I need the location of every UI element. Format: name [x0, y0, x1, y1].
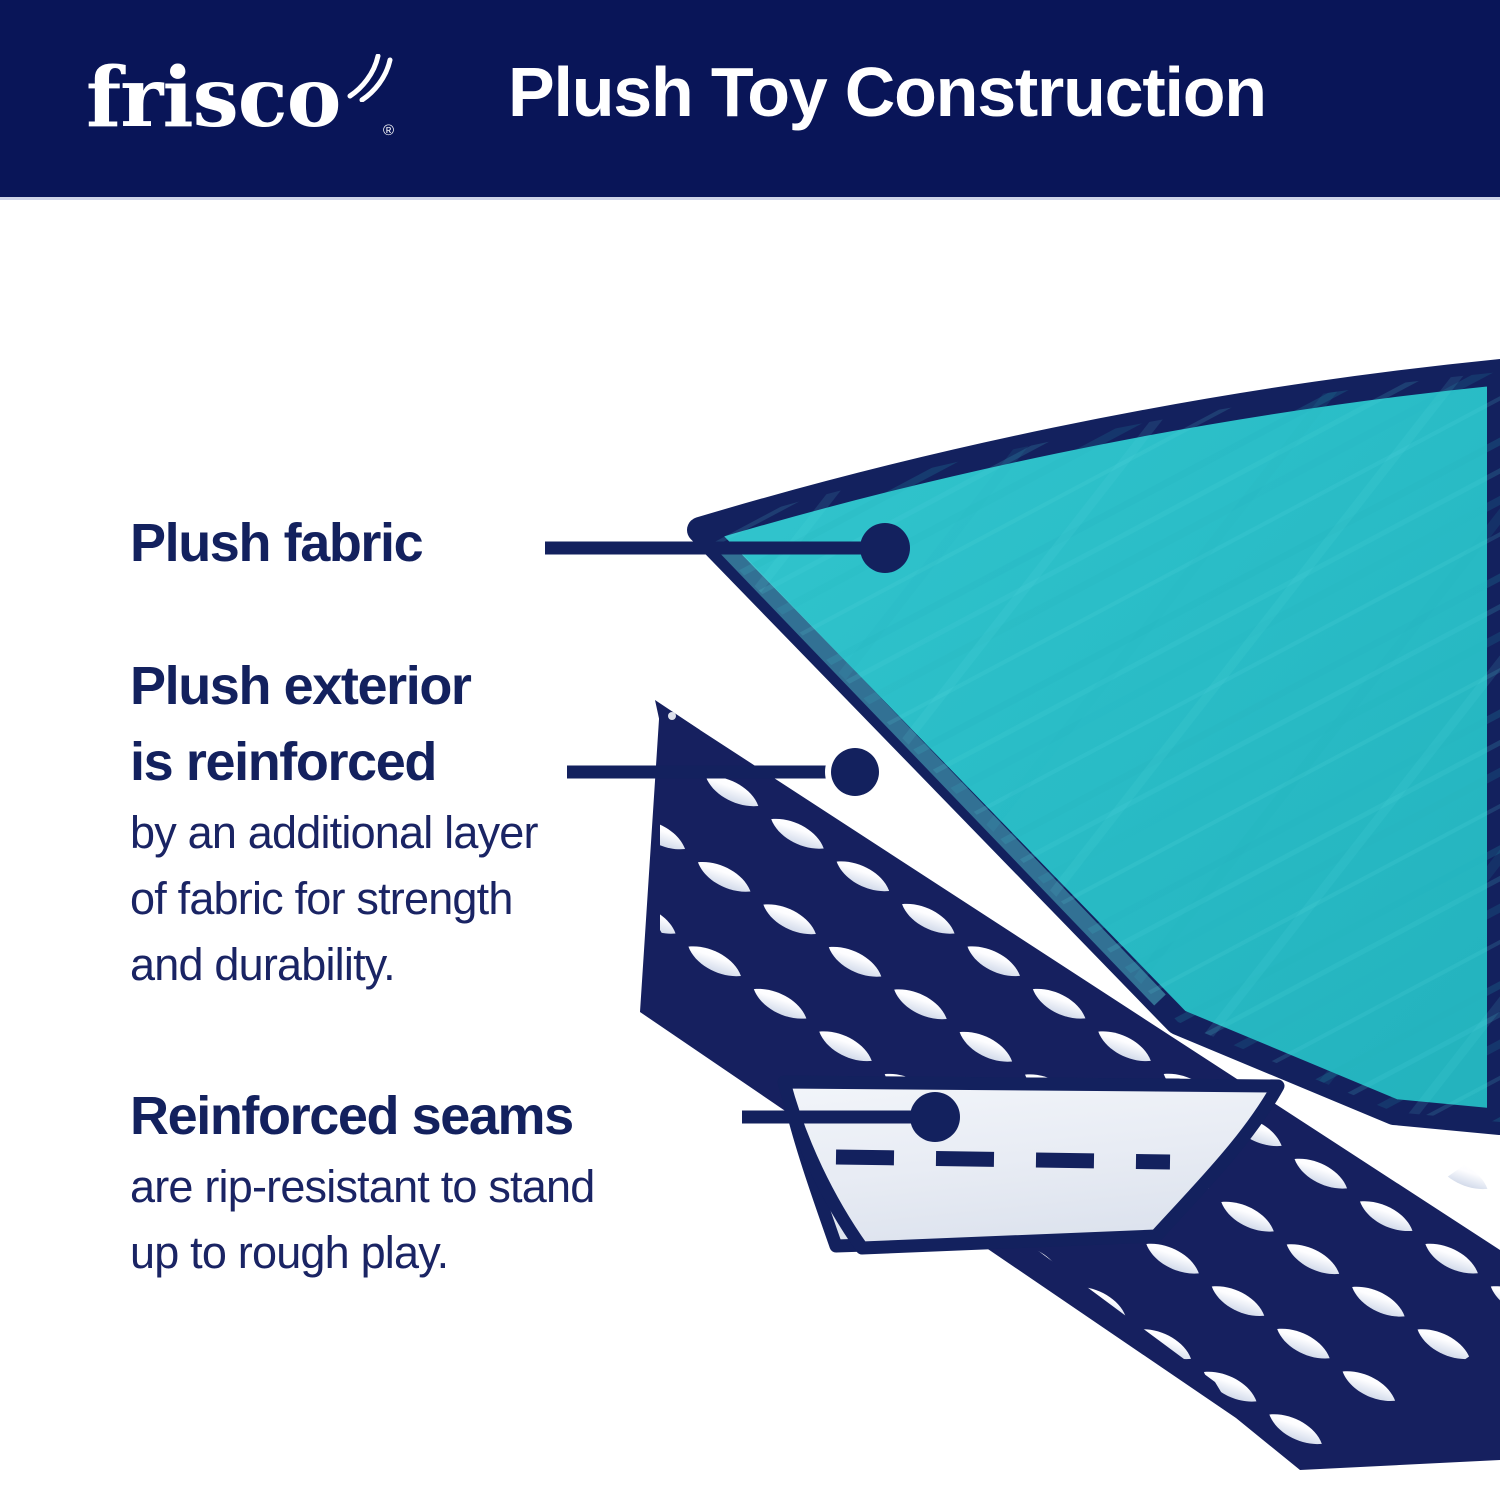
callout-plush-fabric: Plush fabric: [130, 505, 422, 581]
leader-dot-reinforced-seams: [910, 1092, 960, 1142]
callout-reinforced-seams-body-line-2: up to rough play.: [130, 1220, 594, 1286]
callout-plush-exterior-reinforced: Plush exterior is reinforced by an addit…: [130, 648, 538, 998]
leader-dot-plush-fabric: [860, 523, 910, 573]
leader-dot-ring-plush-exterior: [825, 742, 885, 802]
callout-plush-exterior-head-line-1: Plush exterior: [130, 648, 538, 724]
callout-plush-fabric-head-line-1: Plush fabric: [130, 505, 422, 581]
callout-plush-exterior-body-line-1: by an additional layer: [130, 800, 538, 866]
seam-stitch-dashed-line: [836, 1157, 1170, 1162]
page-title: Plush Toy Construction: [508, 52, 1266, 132]
reinforcement-mesh-tip: [655, 700, 700, 760]
leader-dot-plush-exterior: [831, 748, 879, 796]
plush-fabric-fur-texture: [700, 372, 1500, 1122]
reinforcement-mesh-tip-notch: [668, 712, 676, 720]
callout-reinforced-seams-body-line-1: are rip-resistant to stand: [130, 1154, 594, 1220]
callout-plush-exterior-body-line-2: of fabric for strength: [130, 866, 538, 932]
callout-plush-exterior-head-line-2: is reinforced: [130, 724, 538, 800]
seam-flap-shape-main: [784, 1082, 1278, 1248]
seam-flap-shape: [786, 1083, 1178, 1246]
callout-leader-lines: [545, 523, 960, 1142]
frisco-logo: frisco ®: [86, 48, 386, 153]
callout-reinforced-seams: Reinforced seams are rip-resistant to st…: [130, 1078, 594, 1286]
plush-fabric-layer: [700, 372, 1500, 1122]
seam-flap-layer: [784, 1082, 1278, 1248]
callout-reinforced-seams-head-line-1: Reinforced seams: [130, 1078, 594, 1154]
header-bar: frisco ® Plush Toy Construction: [0, 0, 1500, 200]
plush-fabric-fur-texture-2: [700, 372, 1500, 1122]
callout-plush-exterior-body-line-3: and durability.: [130, 932, 538, 998]
plush-fabric-fold-highlight: [726, 548, 1160, 1000]
infographic-canvas: frisco ® Plush Toy Construction: [0, 0, 1500, 1500]
swoosh-icon: [344, 54, 396, 102]
registered-trademark-mark: ®: [383, 122, 394, 139]
reinforcement-mesh-band: [640, 704, 1500, 1470]
plush-fabric-panel: [700, 372, 1500, 1122]
logo-wordmark: frisco: [86, 48, 340, 148]
